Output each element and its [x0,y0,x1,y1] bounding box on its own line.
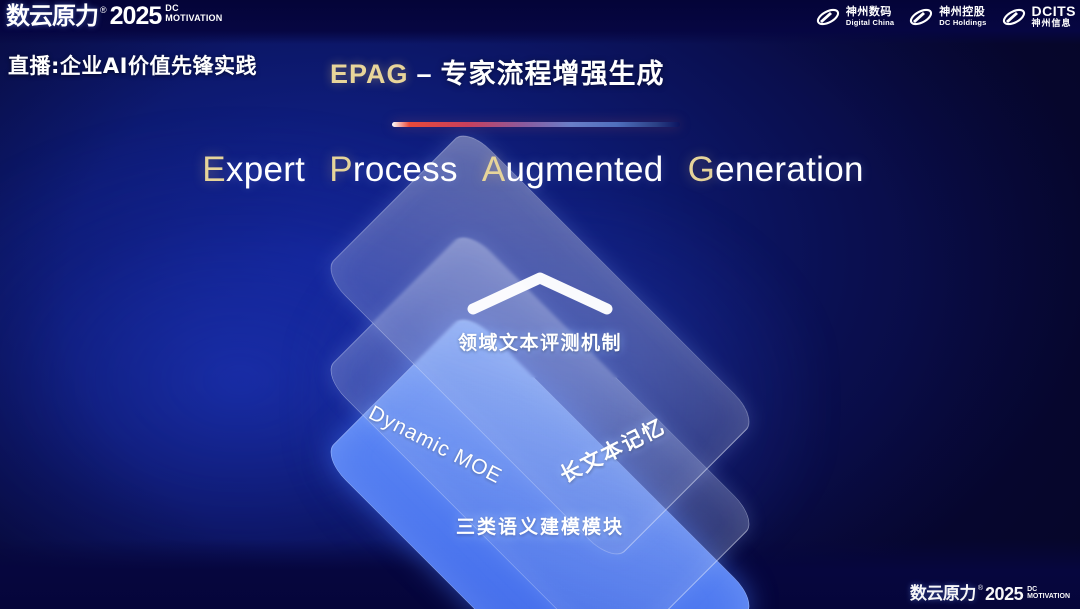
partner-text: 神州数码 Digital China [846,6,894,27]
partner-logo-dc-holdings: 神州控股 DC Holdings [908,6,986,28]
brand-watermark: 数云原力 ® 2025 DC MOTIVATION [910,584,1070,604]
brand-dc-label: DC [165,4,222,13]
title-word-augmented: Augmented [482,150,664,190]
watermark-registered-mark: ® [978,584,983,593]
swoosh-icon [815,6,841,28]
brand-registered-mark: ® [100,4,107,16]
diagram-label-top: 领域文本评测机制 [0,328,1080,355]
title-rest-eneration: eneration [715,150,864,189]
brand-logo: 数云原力 ® 2025 DC MOTIVATION [6,2,222,30]
brand-name-cn: 数云原力 [6,2,98,30]
watermark-motivation-label: MOTIVATION [1027,593,1070,601]
headline-dash: – [417,59,433,90]
title-rest-rocess: rocess [353,150,458,189]
title-capital-a: A [482,150,506,189]
title-rest-ugmented: ugmented [505,150,663,189]
partner-name-en: Digital China [846,18,894,27]
title-word-expert: Expert [202,150,305,190]
chevron-up-icon [465,269,615,315]
headline-acronym: EPAG [330,59,409,90]
title-capital-e: E [202,150,226,189]
diagram-label-bottom: 三类语义建模模块 [0,512,1080,539]
partner-name-en: DC Holdings [939,18,986,27]
isometric-layer-diagram: 领域文本评测机制 Dynamic MOE 长文本记忆 三类语义建模模块 [0,225,1080,570]
partner-name-cn: 神州信息 [1032,19,1077,29]
partner-text: 神州控股 DC Holdings [939,6,986,27]
title-capital-p: P [329,150,353,189]
title-word-process: Process [329,150,458,190]
watermark-dc-label: DC [1027,586,1070,593]
title-capital-g: G [688,150,716,189]
brand-year: 2025 [110,2,162,30]
headline-title-cn: 专家流程增强生成 [441,52,665,91]
title-rest-xpert: xpert [226,150,305,189]
gradient-divider [392,122,680,127]
partner-logo-bar: 神州数码 Digital China 神州控股 DC Holdings DCIT… [815,4,1076,29]
title-word-generation: Generation [688,150,864,190]
brand-motivation-label: MOTIVATION [165,13,222,23]
page-title: Expert Process Augmented Generation [0,150,1080,190]
partner-name-en: DCITS [1032,4,1077,19]
watermark-name-cn: 数云原力 [910,584,976,604]
page-headline: EPAG – 专家流程增强生成 [330,52,665,91]
swoosh-icon [1001,6,1027,28]
swoosh-icon [908,6,934,28]
partner-logo-digital-china: 神州数码 Digital China [815,6,894,28]
brand-dc-motivation: DC MOTIVATION [165,4,222,23]
watermark-dc-motivation: DC MOTIVATION [1027,586,1070,601]
live-stream-subtitle: 直播:企业AI价值先锋实践 [8,50,257,80]
partner-name-cn: 神州控股 [939,6,986,18]
partner-name-cn: 神州数码 [846,6,894,18]
partner-logo-dcits: DCITS 神州信息 [1001,4,1077,29]
watermark-year: 2025 [985,584,1023,604]
partner-text: DCITS 神州信息 [1032,4,1077,29]
